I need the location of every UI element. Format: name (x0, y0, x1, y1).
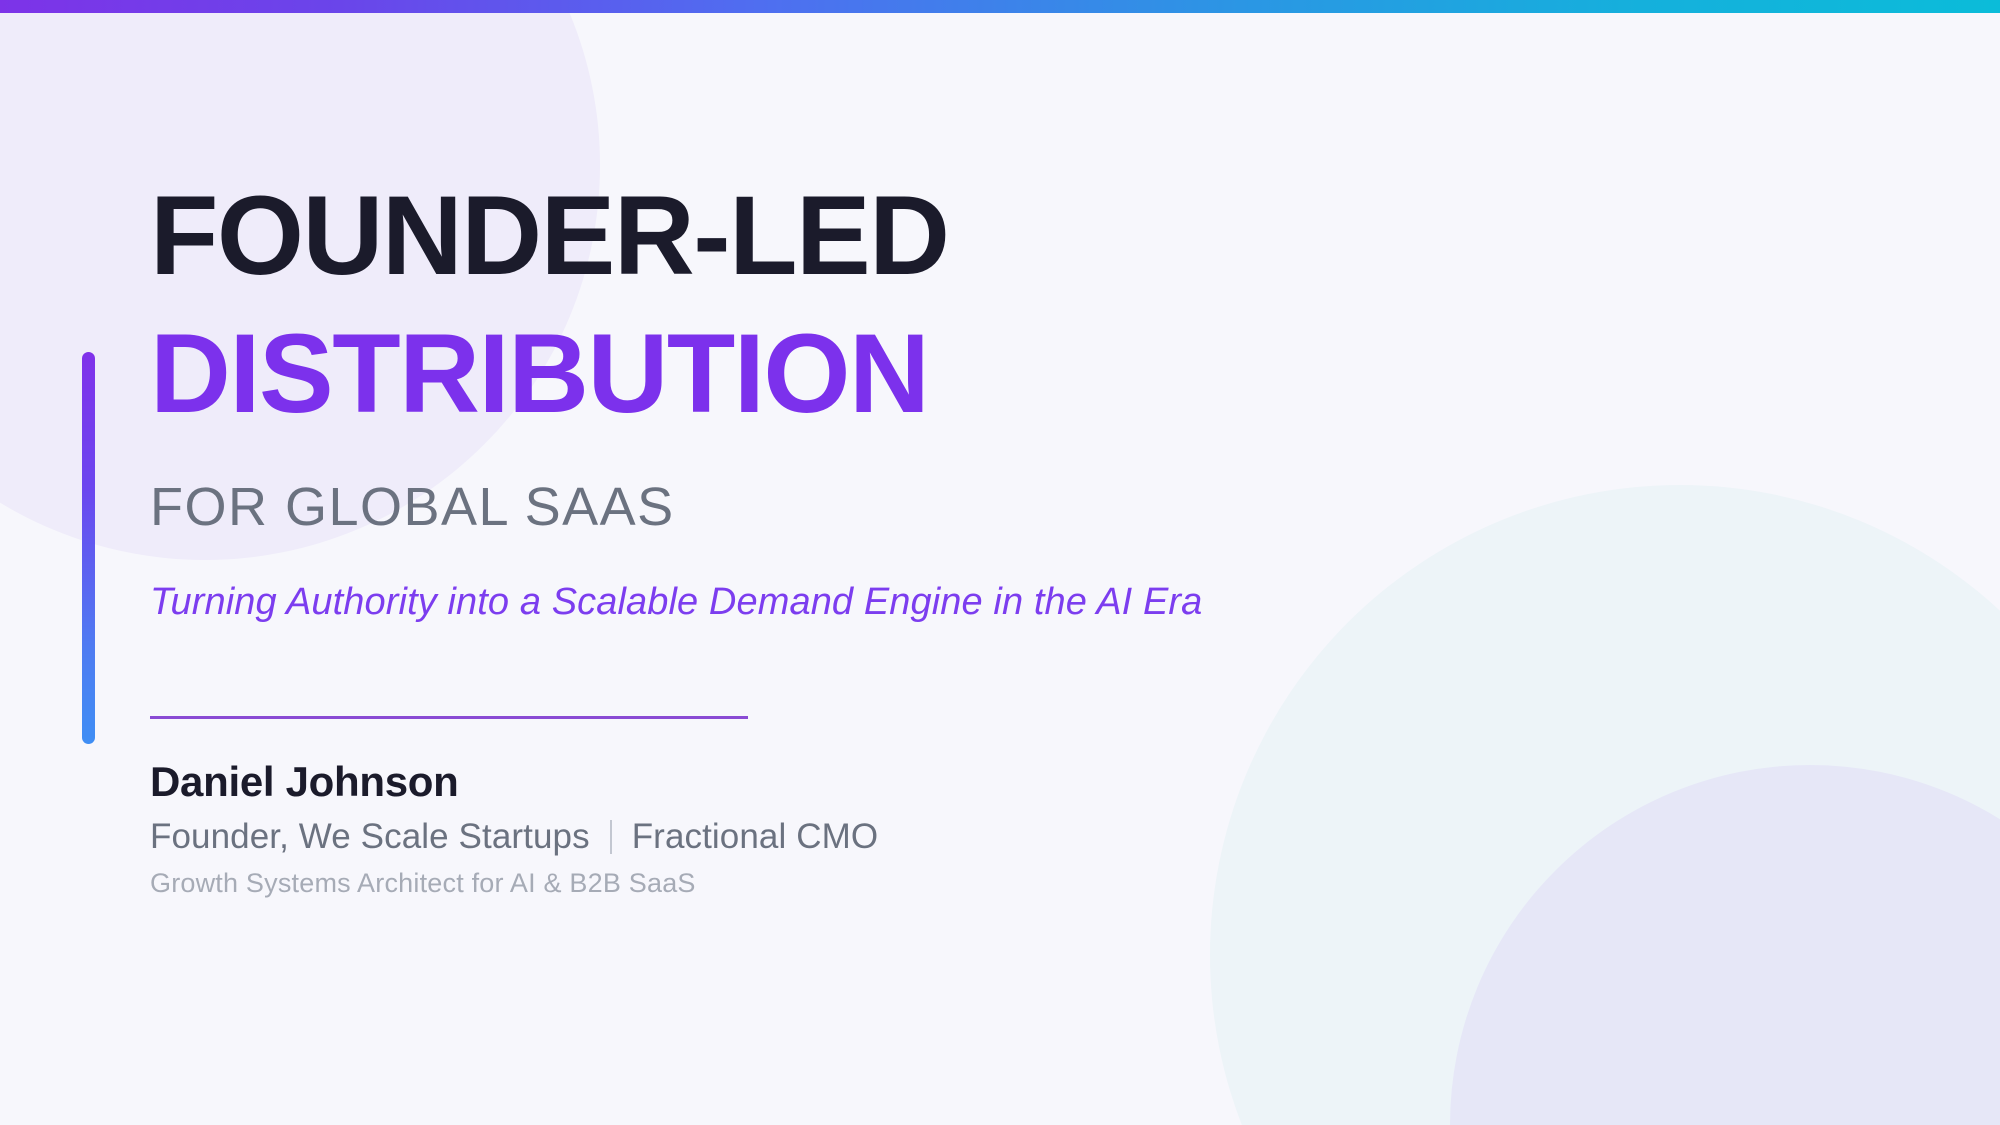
slide-content: FOUNDER-LED DISTRIBUTION FOR GLOBAL SAAS… (0, 0, 2000, 1125)
speaker-role-secondary: Fractional CMO (632, 815, 878, 859)
speaker-name: Daniel Johnson (150, 758, 1350, 805)
speaker-tagline: Growth Systems Architect for AI & B2B Sa… (150, 867, 1350, 901)
title-line-primary: FOUNDER-LED (150, 180, 1750, 292)
speaker-block: Daniel Johnson Founder, We Scale Startup… (150, 758, 1350, 901)
speaker-role-primary: Founder, We Scale Startups (150, 815, 590, 859)
title-slide: FOUNDER-LED DISTRIBUTION FOR GLOBAL SAAS… (0, 0, 2000, 1125)
speaker-role-line: Founder, We Scale Startups Fractional CM… (150, 815, 1350, 859)
title-subtitle: FOR GLOBAL SAAS (150, 480, 1750, 534)
section-divider (150, 716, 748, 719)
title-tagline: Turning Authority into a Scalable Demand… (150, 582, 1750, 624)
title-block: FOUNDER-LED DISTRIBUTION FOR GLOBAL SAAS… (150, 180, 1750, 624)
role-separator-icon (610, 820, 612, 854)
vertical-accent-bar (82, 352, 95, 744)
title-line-accent: DISTRIBUTION (150, 318, 1750, 430)
top-gradient-bar (0, 0, 2000, 13)
